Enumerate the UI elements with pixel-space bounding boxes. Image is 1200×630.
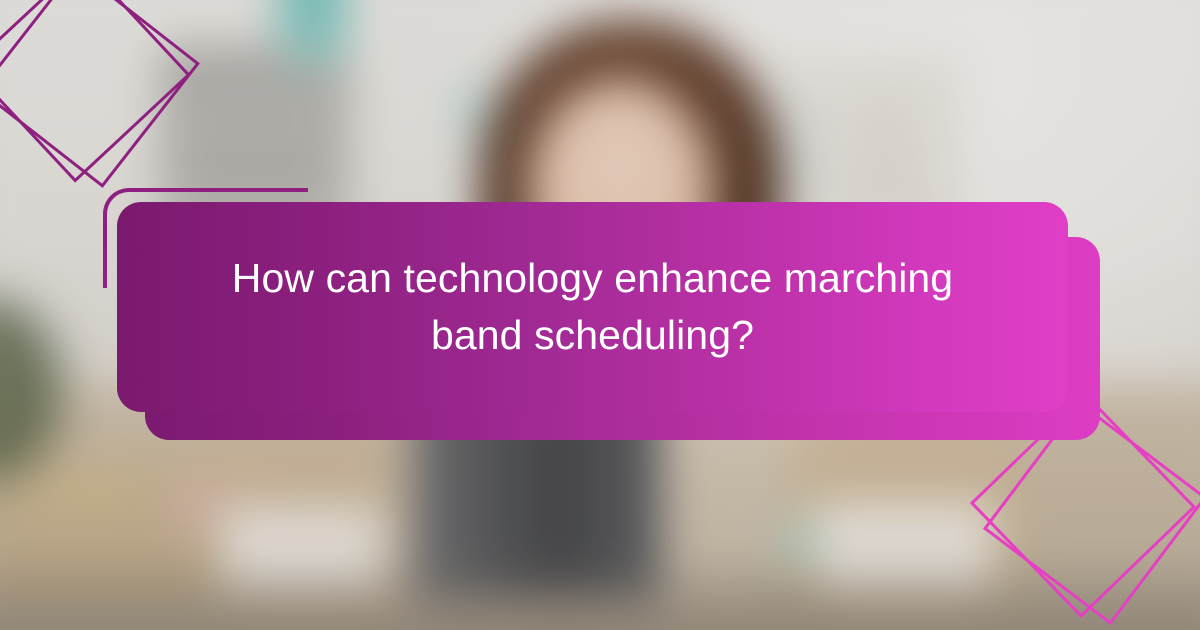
rotated-square-outline-icon [0,0,220,212]
card-outline-cap [103,278,107,288]
rotated-square-outline-icon [985,415,1200,630]
headline-text: How can technology enhance marching band… [137,250,1049,363]
social-card-canvas: How can technology enhance marching band… [0,0,1200,630]
card-outline-cap [296,188,306,192]
rotated-square-outline-icon [0,0,200,188]
headline-card: How can technology enhance marching band… [117,202,1068,412]
